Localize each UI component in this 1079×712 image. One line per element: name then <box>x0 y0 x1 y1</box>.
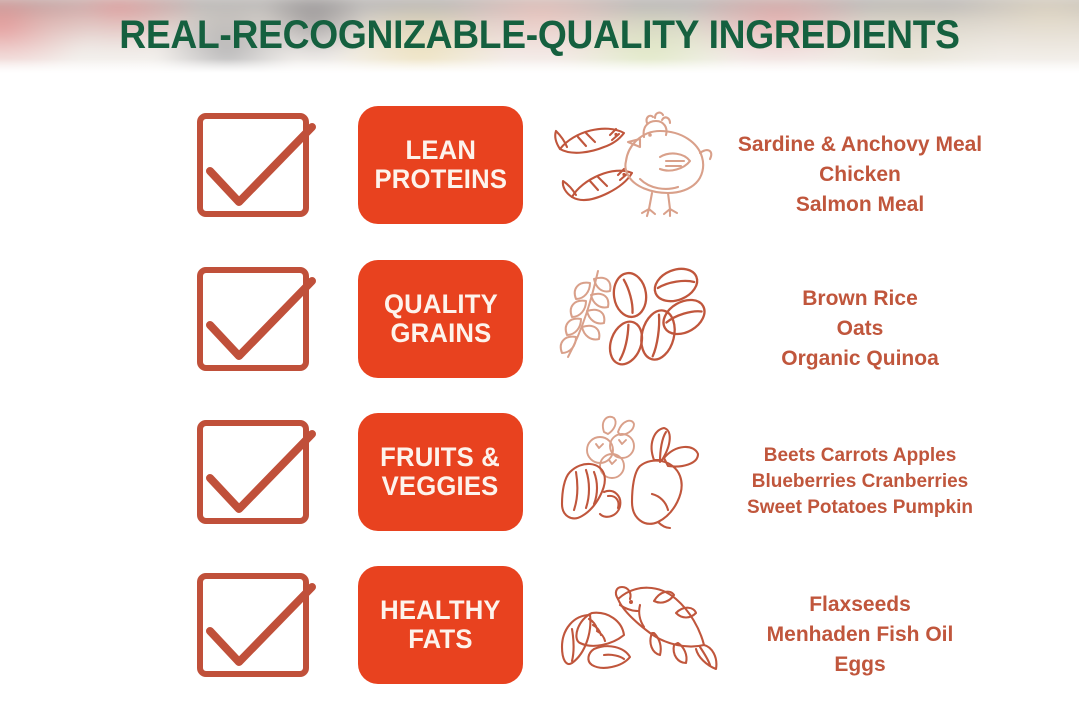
ingredient-row-quality-grains: QUALITYGRAINS <box>0 251 1079 406</box>
ingredient-row-lean-proteins: LEANPROTEINS <box>0 97 1079 252</box>
checkmark-icon <box>186 259 326 381</box>
ingredient-list-healthy-fats: Flaxseeds Menhaden Fish Oil Eggs <box>700 557 1020 712</box>
checkmark-icon <box>186 105 326 227</box>
ingredient-line: Eggs <box>834 650 885 680</box>
fish-and-chicken-icon <box>548 103 718 227</box>
badge-label: LEANPROTEINS <box>374 136 507 194</box>
wheat-and-grains-icon <box>548 257 718 381</box>
ingredient-list-lean-proteins: Sardine & Anchovy Meal Chicken Salmon Me… <box>700 97 1020 252</box>
badge-label: HEALTHYFATS <box>380 596 501 654</box>
ingredient-line: Blueberries Cranberries <box>752 469 969 495</box>
badge-label: FRUITS &VEGGIES <box>381 443 501 501</box>
badge-label: QUALITYGRAINS <box>384 290 498 348</box>
ingredient-line: Beets Carrots Apples <box>764 443 957 469</box>
ingredient-line: Sardine & Anchovy Meal <box>738 130 982 160</box>
checkmark-icon <box>186 412 326 534</box>
ingredient-line: Flaxseeds <box>809 590 911 620</box>
ingredient-line: Brown Rice <box>802 284 918 314</box>
badge-quality-grains[interactable]: QUALITYGRAINS <box>358 260 523 378</box>
ingredient-line: Chicken <box>819 160 901 190</box>
ingredient-row-fruits-veggies: FRUITS &VEGGIES <box>0 404 1079 559</box>
header-banner: REAL-RECOGNIZABLE-QUALITY INGREDIENTS <box>0 0 1079 73</box>
ingredient-list-fruits-veggies: Beets Carrots Apples Blueberries Cranber… <box>700 404 1020 559</box>
ingredient-line: Organic Quinoa <box>781 344 939 374</box>
ingredient-list-quality-grains: Brown Rice Oats Organic Quinoa <box>700 251 1020 406</box>
ingredient-line: Salmon Meal <box>796 190 924 220</box>
ingredient-row-healthy-fats: HEALTHYFATS <box>0 557 1079 712</box>
ingredient-line: Sweet Potatoes Pumpkin <box>747 495 973 521</box>
badge-lean-proteins[interactable]: LEANPROTEINS <box>358 106 523 224</box>
vegetables-and-berries-icon <box>548 410 718 534</box>
ingredient-rows: LEANPROTEINS <box>0 73 1079 682</box>
flaxseed-and-fish-icon <box>548 563 718 687</box>
checkmark-icon <box>186 565 326 687</box>
ingredient-line: Oats <box>837 314 884 344</box>
badge-fruits-veggies[interactable]: FRUITS &VEGGIES <box>358 413 523 531</box>
badge-healthy-fats[interactable]: HEALTHYFATS <box>358 566 523 684</box>
ingredient-line: Menhaden Fish Oil <box>767 620 954 650</box>
page-title: REAL-RECOGNIZABLE-QUALITY INGREDIENTS <box>38 8 1041 62</box>
